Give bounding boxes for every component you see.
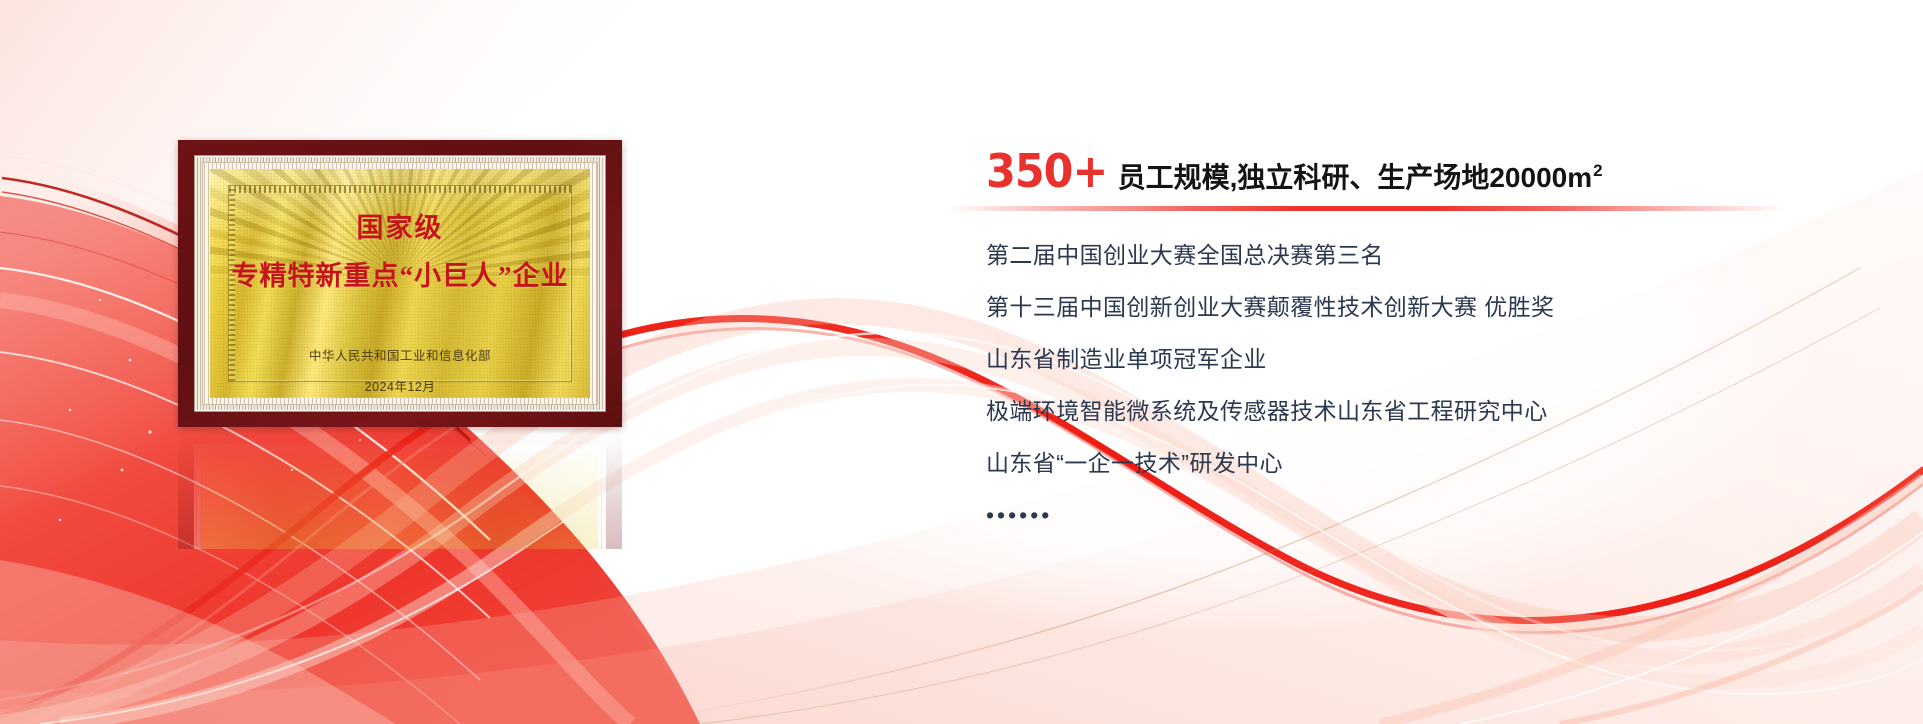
headline: 350+ 员工规模,独立科研、生产场地20000m 2	[986, 148, 1866, 194]
headline-text: 员工规模,独立科研、生产场地20000m	[1118, 164, 1593, 192]
award-plaque: 国家级 专精特新重点“小巨人”企业 中华人民共和国工业和信息化部 2024年12…	[178, 140, 622, 427]
plaque-title: 国家级	[357, 213, 444, 244]
list-item: 极端环境智能微系统及传感器技术山东省工程研究中心	[986, 400, 1866, 423]
plaque-frame: 国家级 专精特新重点“小巨人”企业 中华人民共和国工业和信息化部 2024年12…	[178, 140, 622, 427]
list-item: 第二届中国创业大赛全国总决赛第三名	[986, 244, 1866, 267]
plaque-silver-border-outer: 国家级 专精特新重点“小巨人”企业 中华人民共和国工业和信息化部 2024年12…	[194, 155, 606, 412]
plaque-subtitle: 专精特新重点“小巨人”企业	[232, 261, 569, 292]
content-column: 350+ 员工规模,独立科研、生产场地20000m 2 第二届中国创业大赛全国总…	[986, 148, 1866, 527]
headline-divider	[946, 206, 1786, 211]
award-list: 第二届中国创业大赛全国总决赛第三名 第十三届中国创新创业大赛颠覆性技术创新大赛 …	[986, 244, 1866, 527]
headline-superscript: 2	[1593, 161, 1602, 181]
list-item: 山东省制造业单项冠军企业	[986, 348, 1866, 371]
plaque-reflection	[178, 429, 622, 549]
headline-number: 350+	[986, 148, 1107, 194]
plaque-date: 2024年12月	[365, 376, 436, 395]
plaque-issuer: 中华人民共和国工业和信息化部	[309, 345, 491, 364]
list-more-indicator: ••••••	[986, 504, 1866, 527]
plaque-silver-border-inner: 国家级 专精特新重点“小巨人”企业 中华人民共和国工业和信息化部 2024年12…	[202, 162, 598, 405]
plaque-text-block: 国家级 专精特新重点“小巨人”企业 中华人民共和国工业和信息化部 2024年12…	[210, 169, 590, 398]
list-item: 第十三届中国创新创业大赛颠覆性技术创新大赛 优胜奖	[986, 296, 1866, 319]
plaque-gold-plate: 国家级 专精特新重点“小巨人”企业 中华人民共和国工业和信息化部 2024年12…	[210, 169, 590, 398]
list-item: 山东省“一企一技术”研发中心	[986, 452, 1866, 475]
banner-stage: 国家级 专精特新重点“小巨人”企业 中华人民共和国工业和信息化部 2024年12…	[0, 0, 1923, 724]
